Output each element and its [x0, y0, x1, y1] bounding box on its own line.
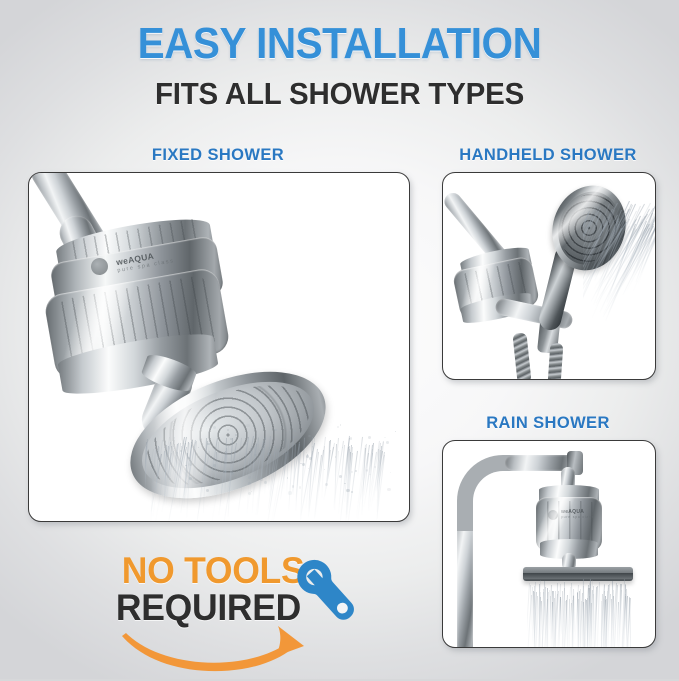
rain-brand-tagline: pure spa class — [561, 515, 594, 519]
page-title: EASY INSTALLATION — [27, 22, 652, 66]
handheld-hose — [512, 332, 531, 380]
infographic-canvas: EASY INSTALLATION FITS ALL SHOWER TYPES … — [0, 0, 679, 679]
rain-brand-mark-icon — [548, 510, 558, 520]
panel-label-handheld-shower: HANDHELD SHOWER — [436, 146, 660, 165]
no-tools-text: NO TOOLS — [122, 552, 305, 589]
amazon-smile-icon — [118, 620, 310, 681]
panel-label-rain-shower: RAIN SHOWER — [436, 414, 660, 433]
water-spray-rain — [527, 579, 631, 648]
panel-fixed-shower: weAQUA pure spa class — [28, 172, 410, 522]
handheld-shower-illustration — [443, 173, 655, 379]
panel-rain-shower: weAQUA pure spa class — [442, 440, 656, 648]
handheld-hose-second — [548, 343, 564, 380]
panel-handheld-shower — [442, 172, 656, 380]
fixed-shower-illustration: weAQUA pure spa class — [29, 173, 409, 521]
page-subtitle: FITS ALL SHOWER TYPES — [17, 78, 662, 109]
panel-label-fixed-shower: FIXED SHOWER — [28, 146, 408, 165]
rain-shower-illustration: weAQUA pure spa class — [443, 441, 655, 647]
rain-head-front-edge — [523, 573, 633, 579]
